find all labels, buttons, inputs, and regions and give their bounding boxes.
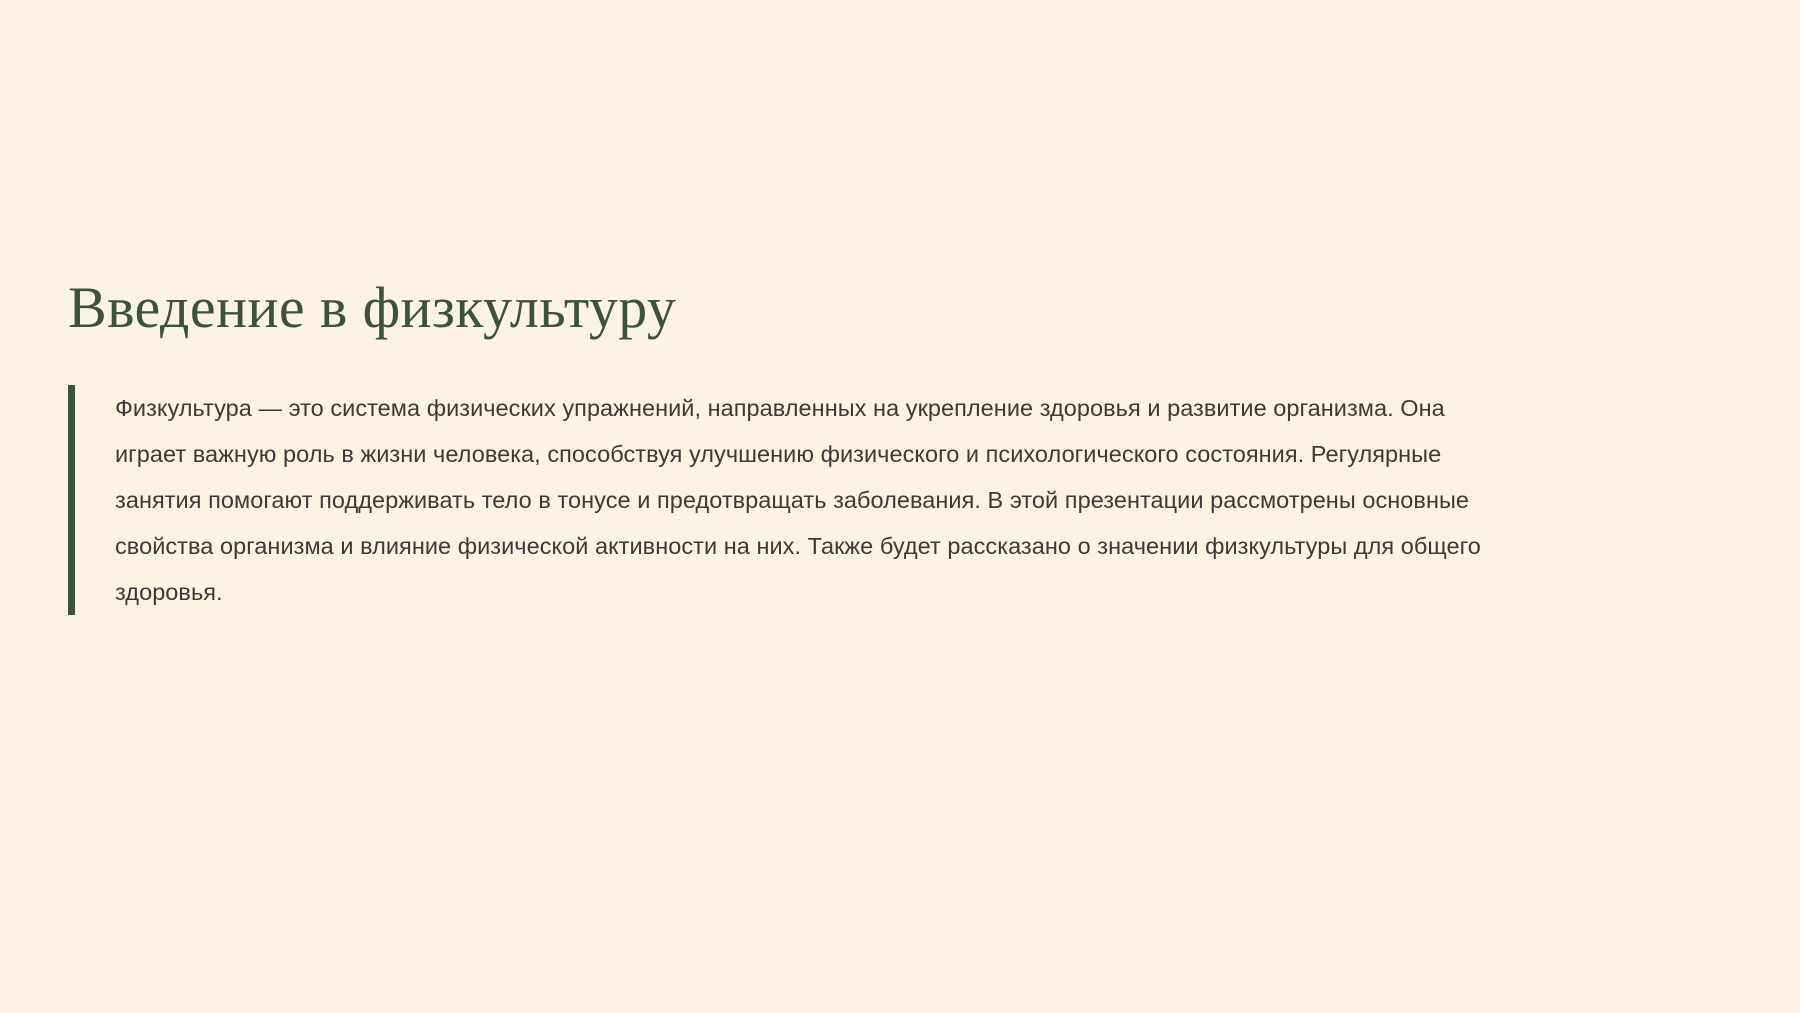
body-block: Физкультура — это система физических упр… [68,385,1728,615]
slide-content: Введение в физкультуру Физкультура — это… [68,276,1728,615]
presentation-slide: Введение в физкультуру Физкультура — это… [0,0,1800,1013]
slide-title: Введение в физкультуру [68,276,1728,341]
slide-body-text: Физкультура — это система физических упр… [75,385,1505,615]
left-accent-bar [68,385,75,615]
